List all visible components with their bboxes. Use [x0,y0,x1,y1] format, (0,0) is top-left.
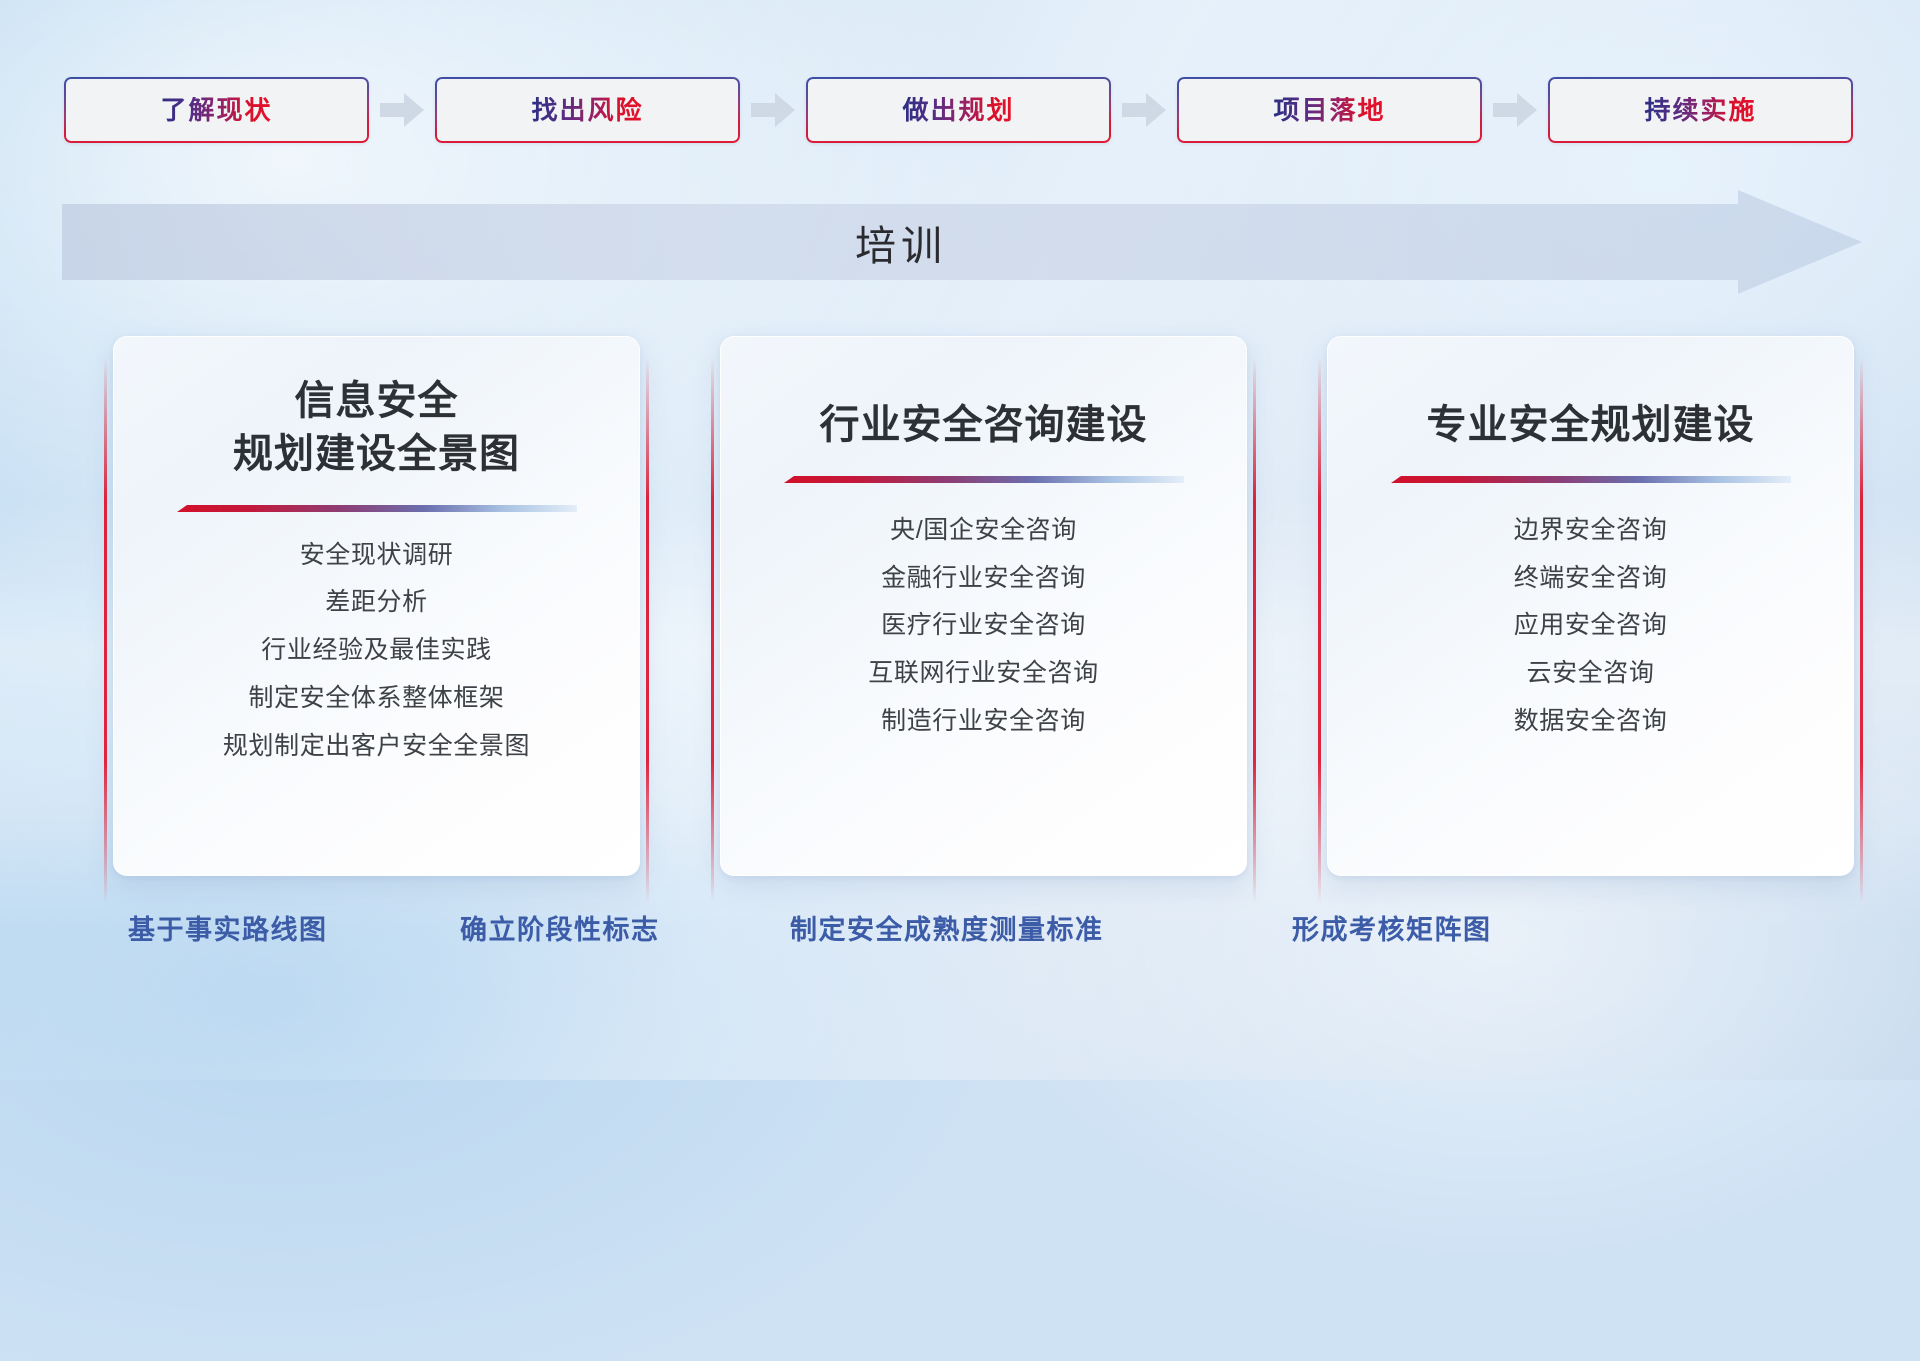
training-banner: 培训 [62,190,1862,294]
card-body: 信息安全 规划建设全景图 [113,336,640,876]
step-chip-4[interactable]: 持续实施 [1548,77,1853,143]
card-title-line: 行业安全咨询建设 [820,399,1148,452]
card-title: 信息安全 规划建设全景图 [215,375,538,481]
footnote-0: 基于事实路线图 [128,908,328,947]
list-item: 央/国企安全咨询 [890,511,1077,550]
card-body: 行业安全咨询建设 [720,336,1247,876]
chevron-right-arrow-icon [1111,77,1177,143]
card-title: 专业安全规划建设 [1409,399,1773,452]
card-divider [177,503,577,514]
card-title: 行业安全咨询建设 [802,399,1166,452]
card-item-list: 边界安全咨询 终端安全咨询 应用安全咨询 云安全咨询 数据安全咨询 [1514,511,1668,741]
list-item: 边界安全咨询 [1514,511,1668,550]
card-right-accent-stripe [1253,358,1256,903]
card-right-accent-stripe [1860,358,1863,903]
list-item: 安全现状调研 [300,536,454,575]
list-item: 制造行业安全咨询 [881,702,1086,741]
list-item: 医疗行业安全咨询 [881,606,1086,645]
footnote-row: 基于事实路线图 确立阶段性标志 制定安全成熟度测量标准 形成考核矩阵图 [0,908,1920,954]
list-item: 终端安全咨询 [1514,559,1668,598]
card-right-accent-stripe [646,358,649,903]
footnote-2: 制定安全成熟度测量标准 [790,908,1104,947]
card-item-list: 央/国企安全咨询 金融行业安全咨询 医疗行业安全咨询 互联网行业安全咨询 制造行… [868,511,1098,741]
card-title-line: 专业安全规划建设 [1427,399,1755,452]
list-item: 互联网行业安全咨询 [868,654,1098,693]
list-item: 数据安全咨询 [1514,702,1668,741]
chevron-right-arrow-icon [740,77,806,143]
card-left-accent-stripe [1318,358,1321,903]
step-chip-0[interactable]: 了解现状 [64,77,369,143]
footnote-3: 形成考核矩阵图 [1292,908,1492,947]
chevron-right-arrow-icon [1482,77,1548,143]
card-body: 专业安全规划建设 [1327,336,1854,876]
card-item-list: 安全现状调研 差距分析 行业经验及最佳实践 制定安全体系整体框架 规划制定出客户… [223,536,530,766]
list-item: 云安全咨询 [1526,654,1654,693]
step-chip-label: 持续实施 [1644,97,1756,123]
list-item: 行业经验及最佳实践 [261,631,491,670]
card-info-security-blueprint[interactable]: 信息安全 规划建设全景图 [104,336,649,876]
card-row: 信息安全 规划建设全景图 [104,336,1864,876]
card-left-accent-stripe [711,358,714,903]
step-chip-label: 了解现状 [160,97,272,123]
card-divider [784,474,1184,485]
step-chip-3[interactable]: 项目落地 [1177,77,1482,143]
chevron-right-arrow-icon [369,77,435,143]
list-item: 规划制定出客户安全全景图 [223,727,530,766]
card-left-accent-stripe [104,358,107,903]
step-chip-2[interactable]: 做出规划 [806,77,1111,143]
card-title-line: 信息安全 [233,375,520,428]
banner-label: 培训 [62,190,1740,294]
list-item: 金融行业安全咨询 [881,559,1086,598]
card-title-line: 规划建设全景图 [233,428,520,481]
step-chip-label: 找出风险 [531,97,643,123]
step-chip-label: 项目落地 [1273,97,1385,123]
card-professional-security-planning[interactable]: 专业安全规划建设 [1318,336,1863,876]
card-industry-security-consulting[interactable]: 行业安全咨询建设 [711,336,1256,876]
step-chip-label: 做出规划 [902,97,1014,123]
process-step-flow: 了解现状 找出风险 做出规划 项目落地 持续实施 [64,76,1856,144]
footnote-1: 确立阶段性标志 [460,908,660,947]
list-item: 应用安全咨询 [1514,606,1668,645]
list-item: 差距分析 [325,583,427,622]
step-chip-1[interactable]: 找出风险 [435,77,740,143]
card-divider [1391,474,1791,485]
list-item: 制定安全体系整体框架 [248,679,504,718]
